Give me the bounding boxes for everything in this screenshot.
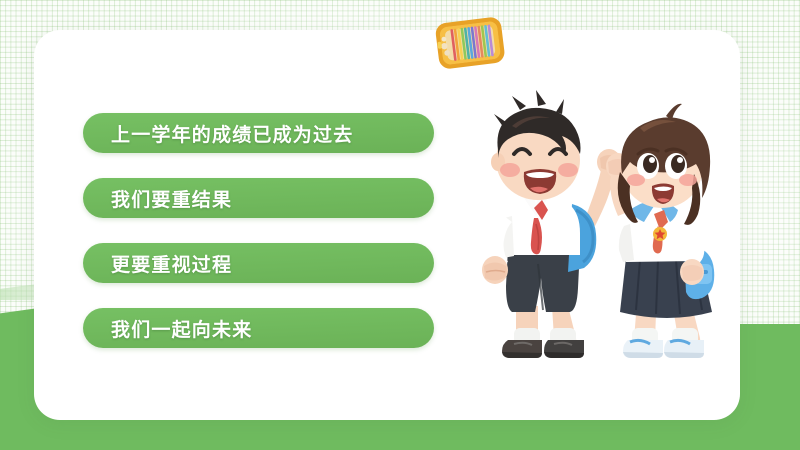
message-pill-2[interactable]: 我们要重结果 xyxy=(83,178,434,218)
message-pill-4[interactable]: 我们一起向未来 xyxy=(83,308,434,348)
message-pill-3[interactable]: 更要重视过程 xyxy=(83,243,434,283)
message-pill-label: 我们一起向未来 xyxy=(111,315,252,342)
slide-canvas: 上一学年的成绩已成为过去 我们要重结果 更要重视过程 我们一起向未来 xyxy=(0,0,800,450)
pencil-case-icon xyxy=(433,10,507,74)
two-students-cheering-illustration xyxy=(468,88,733,373)
message-pill-label: 我们要重结果 xyxy=(111,185,232,212)
message-pill-1[interactable]: 上一学年的成绩已成为过去 xyxy=(83,113,434,153)
message-pill-list: 上一学年的成绩已成为过去 我们要重结果 更要重视过程 我们一起向未来 xyxy=(83,113,434,348)
message-pill-label: 更要重视过程 xyxy=(111,250,232,277)
boy-figure xyxy=(482,90,621,358)
girl-figure xyxy=(606,104,714,358)
message-pill-label: 上一学年的成绩已成为过去 xyxy=(111,120,353,147)
